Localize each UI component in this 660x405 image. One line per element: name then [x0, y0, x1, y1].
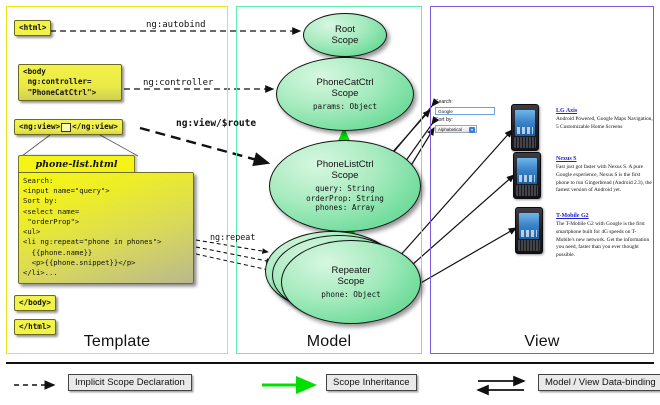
scope-phonecatctrl-name: PhoneCatCtrl Scope: [316, 77, 373, 99]
phone-screen-icon: [519, 213, 539, 239]
sort-select-value: Alphabetical: [438, 127, 462, 132]
phone-thumbnail: [511, 104, 539, 151]
scope-phonelistctrl: PhoneListCtrl Scope query: String orderP…: [269, 140, 421, 232]
panel-view-label: View: [431, 333, 653, 351]
label-ng-view-route: ng:view/$route: [176, 118, 256, 129]
phone-list-note: phone-list.html Search: <input name="que…: [18, 155, 194, 290]
scope-phonelistctrl-name: PhoneListCtrl Scope: [316, 159, 373, 181]
sort-select[interactable]: Alphabetical ▾: [435, 125, 477, 133]
label-ng-repeat: ng:repeat: [210, 232, 255, 242]
scope-repeater: Repeater Scope phone: Object: [281, 240, 421, 324]
tag-body-close: </body>: [14, 295, 56, 311]
phone-snippet: The T-Mobile G2 with Google is the first…: [556, 221, 654, 260]
list-item: T-Mobile G2 The T-Mobile G2 with Google …: [556, 213, 654, 260]
label-ng-autobind: ng:autobind: [146, 20, 206, 30]
view-search-form: Search: Google Sort by: Alphabetical ▾: [435, 99, 497, 133]
legend-item-implicit-scope-declaration: Implicit Scope Declaration: [14, 374, 192, 391]
phone-name-link[interactable]: Nexus S: [556, 156, 654, 162]
legend-item-scope-inheritance: Scope Inheritance: [260, 374, 417, 391]
scope-repeater-name: Repeater Scope: [331, 265, 370, 287]
phone-snippet: Android Powered, Google Maps Navigation,…: [556, 116, 654, 132]
ng-view-open-label: <ng:view>: [19, 122, 60, 131]
scope-root-name: Root Scope: [332, 24, 359, 46]
phone-list-note-code: Search: <input name="query"> Sort by: <s…: [18, 172, 194, 284]
legend-divider: [6, 362, 654, 364]
scope-phonecatctrl: PhoneCatCtrl Scope params: Object: [276, 57, 414, 131]
phone-snippet: Fast just got faster with Nexus S. A pur…: [556, 164, 654, 195]
phone-screen-icon: [515, 110, 535, 136]
scope-phonecatctrl-props: params: Object: [313, 102, 377, 112]
legend-label: Scope Inheritance: [326, 374, 417, 391]
panel-model-label: Model: [237, 333, 421, 351]
ng-view-slot-icon: [61, 123, 71, 132]
search-input[interactable]: Google: [435, 107, 495, 115]
phone-name-link[interactable]: LG Axis: [556, 108, 654, 114]
chevron-down-icon: ▾: [469, 127, 475, 133]
search-label: Search:: [435, 99, 497, 106]
list-item: Nexus S Fast just got faster with Nexus …: [556, 156, 654, 195]
list-item: LG Axis Android Powered, Google Maps Nav…: [556, 108, 654, 132]
sort-label: Sort by:: [435, 117, 497, 124]
scope-phonelistctrl-props: query: String orderProp: String phones: …: [306, 184, 384, 214]
phone-keyboard-icon: [518, 240, 540, 251]
diagram-canvas: Template <html> <body ng:controller= "Ph…: [0, 0, 660, 405]
legend-label: Model / View Data-binding: [538, 374, 660, 391]
panel-template-label: Template: [7, 333, 227, 351]
legend-item-model-view-databinding: Model / View Data-binding: [476, 374, 660, 391]
tag-html-open: <html>: [14, 20, 51, 36]
phone-keyboard-icon: [516, 185, 538, 196]
phone-screen-icon: [517, 158, 537, 184]
phone-keyboard-icon: [514, 137, 536, 148]
tag-html-close: </html>: [14, 319, 56, 335]
tag-ng-view: <ng:view></ng:view>: [14, 119, 123, 135]
legend: Implicit Scope Declaration Scope Inherit…: [6, 372, 654, 398]
scope-root: Root Scope: [303, 13, 387, 57]
phone-thumbnail: [515, 207, 543, 254]
ng-view-close-label: </ng:view>: [72, 122, 118, 131]
phone-name-link[interactable]: T-Mobile G2: [556, 213, 654, 219]
tag-body-open: <body ng:controller= "PhoneCatCtrl">: [18, 64, 122, 101]
label-ng-controller: ng:controller: [143, 78, 213, 88]
legend-label: Implicit Scope Declaration: [68, 374, 192, 391]
scope-repeater-props: phone: Object: [321, 290, 380, 300]
phone-thumbnail: [513, 152, 541, 199]
